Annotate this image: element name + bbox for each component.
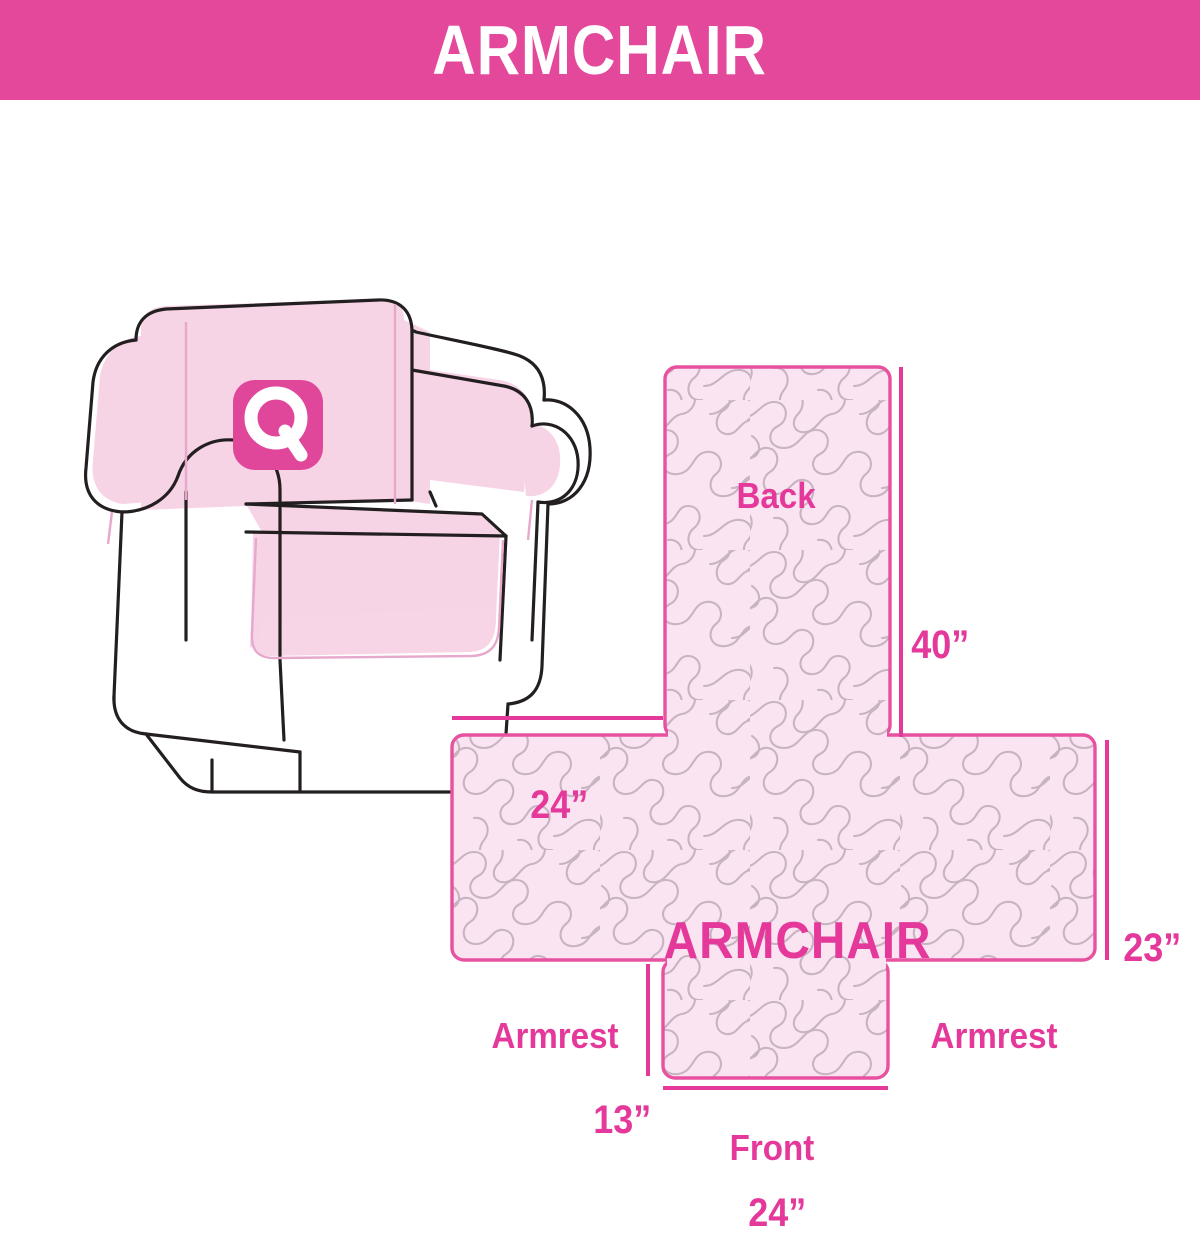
brand-logo-badge <box>233 380 323 470</box>
pattern-panel-front <box>663 960 888 1078</box>
dimension-label-front-drop: 13” <box>593 1100 651 1140</box>
header-bar: ARMCHAIR <box>0 0 1200 100</box>
page-title: ARMCHAIR <box>433 15 768 85</box>
size-chart-page: ARMCHAIR <box>0 0 1200 1200</box>
illustration-area: Back Armrest Armrest Front ARMCHAIR 40” … <box>0 100 1200 1200</box>
dimension-label-armrest-width: 24” <box>530 785 588 825</box>
pattern-label-armrest-left: Armrest <box>492 1018 619 1054</box>
pattern-label-back: Back <box>736 478 815 514</box>
dimension-label-back-length: 40” <box>911 625 969 665</box>
dimension-label-seat-depth: 23” <box>1123 928 1181 968</box>
pattern-label-front: Front <box>730 1130 815 1166</box>
pattern-label-center-armchair: ARMCHAIR <box>664 915 932 967</box>
dimension-label-front-width: 24” <box>748 1193 806 1233</box>
pattern-label-armrest-right: Armrest <box>931 1018 1058 1054</box>
pattern-panel-back <box>665 367 890 737</box>
